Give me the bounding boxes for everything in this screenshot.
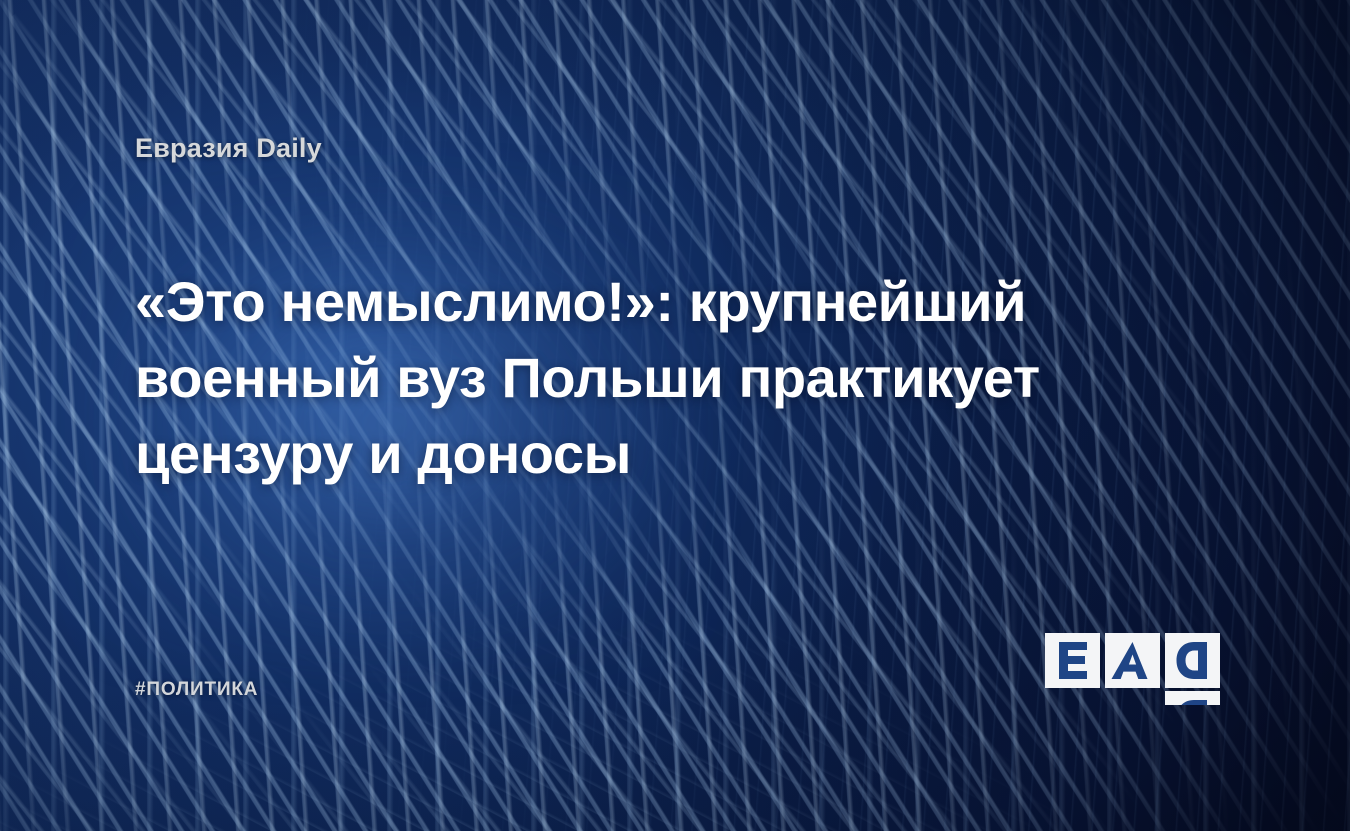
site-name: Евразия Daily [135, 133, 322, 164]
headline: «Это немыслимо!»: крупнейший военный вуз… [135, 264, 1065, 492]
category-tag: #ПОЛИТИКА [135, 679, 258, 701]
eadaily-logo [1045, 633, 1220, 705]
eadaily-logo-icon [1045, 633, 1220, 705]
news-share-card: Евразия Daily «Это немыслимо!»: крупнейш… [0, 0, 1350, 831]
